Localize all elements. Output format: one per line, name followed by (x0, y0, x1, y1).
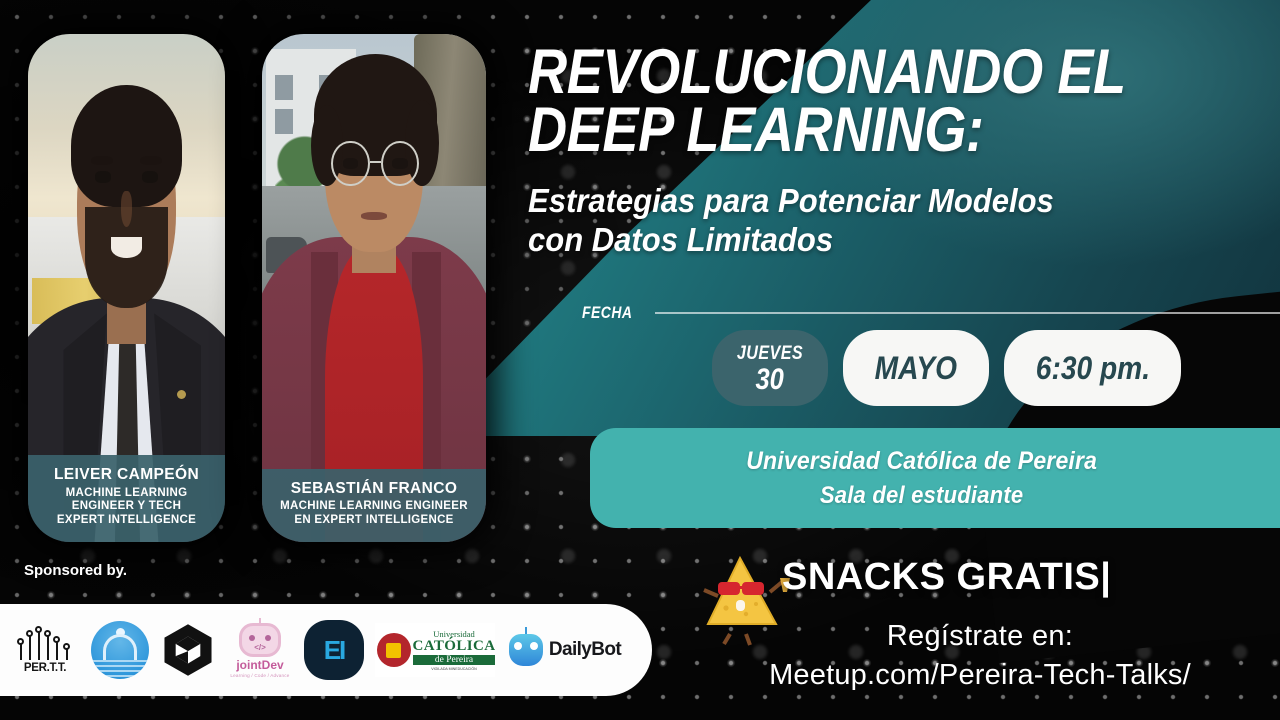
speaker-role: MACHINE LEARNING ENGINEER EN EXPERT INTE… (270, 500, 478, 528)
snacks-headline: SNACKS GRATIS| (782, 556, 1111, 599)
register-prompt: Regístrate en: (700, 620, 1260, 653)
sponsored-by-label: Sponsored by. (24, 562, 127, 579)
robot-icon: </> (239, 623, 281, 657)
cube-logo (160, 622, 216, 678)
dailybot-robot-icon (509, 634, 543, 666)
time-label: 6:30 pm. (1035, 350, 1149, 387)
registration-block: Regístrate en: Meetup.com/Pereira-Tech-T… (700, 620, 1260, 692)
venue-room: Sala del estudiante (820, 482, 1024, 510)
divider-line (655, 312, 1280, 314)
ei-logo: EI (304, 619, 364, 681)
circuit-tree-icon (16, 626, 74, 660)
jointdev-logo-text: jointDev (236, 658, 283, 672)
catolica-line-2: CATÓLICA (413, 639, 496, 654)
dailybot-logo-text: DailyBot (549, 639, 621, 661)
day-pill: JUEVES 30 (712, 330, 828, 406)
page-title: REVOLUCIONANDO EL DEEP LEARNING: (528, 44, 1130, 160)
time-pill: 6:30 pm. (1004, 330, 1182, 406)
date-label: FECHA (582, 303, 632, 323)
cube-icon (160, 622, 216, 678)
speaker-name-bar: LEIVER CAMPEÓN MACHINE LEARNING ENGINEER… (28, 455, 225, 542)
speaker-name: SEBASTIÁN FRANCO (270, 480, 478, 498)
speaker-card: LEIVER CAMPEÓN MACHINE LEARNING ENGINEER… (28, 34, 225, 542)
register-url[interactable]: Meetup.com/Pereira-Tech-Talks/ (700, 659, 1260, 692)
jointdev-logo: </> jointDev Learning / Code / Advance (227, 619, 293, 681)
speaker-photo (262, 34, 486, 542)
speaker-role: MACHINE LEARNING ENGINEER Y TECH EXPERT … (36, 487, 217, 528)
day-name: JUEVES (737, 343, 803, 365)
pereira-seal-logo (91, 619, 149, 681)
venue-name: Universidad Católica de Pereira (747, 447, 1098, 476)
jointdev-logo-tagline: Learning / Code / Advance (230, 673, 289, 678)
date-pills: JUEVES 30 MAYO 6:30 pm. (712, 330, 1181, 406)
pertt-logo: PER.T.T. (10, 619, 80, 681)
ei-mark-icon: EI (304, 620, 364, 680)
sponsor-logo-bar: PER.T.T. </> jointDev Learning / Code / … (0, 604, 652, 696)
speaker-name: LEIVER CAMPEÓN (36, 466, 217, 484)
day-number: 30 (756, 365, 784, 395)
headline-block: REVOLUCIONANDO EL DEEP LEARNING: Estrate… (528, 44, 1228, 260)
date-label-row: FECHA (582, 303, 1280, 323)
speaker-name-bar: SEBASTIÁN FRANCO MACHINE LEARNING ENGINE… (262, 469, 486, 542)
bridge-seal-icon (91, 621, 149, 679)
catolica-logo: Universidad CATÓLICA de Pereira VIGILADA… (375, 623, 495, 677)
event-subtitle: Estrategias para Potenciar Modelos con D… (528, 182, 1186, 260)
pertt-logo-text: PER.T.T. (24, 662, 66, 674)
speaker-card: SEBASTIÁN FRANCO MACHINE LEARNING ENGINE… (262, 34, 486, 542)
sun-emblem-icon (377, 633, 411, 667)
catolica-line-4: VIGILADA MINEDUCACIÓN (413, 667, 496, 671)
venue-box: Universidad Católica de Pereira Sala del… (590, 428, 1280, 528)
event-poster: REVOLUCIONANDO EL DEEP LEARNING: Estrate… (0, 0, 1280, 720)
month-pill: MAYO (843, 330, 989, 406)
catolica-line-3: de Pereira (413, 655, 496, 665)
ei-logo-text: EI (324, 635, 345, 666)
month-label: MAYO (875, 350, 957, 387)
dailybot-logo: DailyBot (506, 619, 624, 681)
